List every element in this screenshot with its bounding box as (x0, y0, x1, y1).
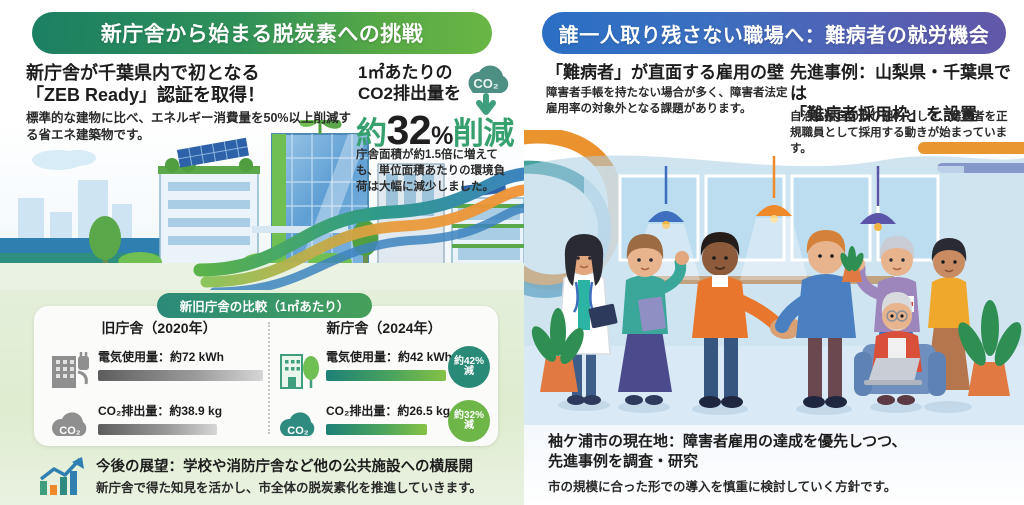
left-footer-heading: 今後の展望：学校や消防庁舎など他の公共施設への横展開 (96, 455, 473, 476)
building-plug-icon (50, 350, 92, 390)
right-heading-barrier: 「難病者」が直面する雇用の壁 (546, 62, 784, 83)
right-body-cases: 自治体独自の取り組みとして、難病者を正規職員として採用する動きが始まっています。 (790, 110, 1018, 158)
metric-label: 電気使用量：約72 kWh (98, 348, 224, 365)
left-panel-header: 新庁舎から始まる脱炭素への挑戦 (32, 12, 492, 54)
co2-reduction-stat: 約32%削減 (356, 110, 521, 151)
comparison-column-new: 新庁舎（2024年） 電気使用量：約42 kWh 約42% 減 CO₂ (278, 318, 490, 454)
stat-suffix: 削減 (453, 116, 514, 151)
metric-row: CO₂ CO₂排出量：約26.5 kg 約32% 減 (278, 400, 490, 450)
left-body-zeb: 標準的な建物に比べ、エネルギー消費量を50%以上削減する省エネ建築物です。 (26, 110, 356, 145)
column-title-old: 旧庁舎（2020年） (50, 318, 268, 338)
svg-text:CO₂: CO₂ (59, 425, 81, 437)
left-panel: 新庁舎から始まる脱炭素への挑戦 新庁舎が千葉県内で初となる 「ZEB Ready… (0, 0, 524, 505)
comparison-badge: 新旧庁舎の比較（1㎡あたり） (157, 293, 372, 318)
metric-label: CO₂排出量：約38.9 kg (98, 402, 222, 419)
reduction-badge-co2: 約32% 減 (448, 400, 490, 442)
right-footer: 袖ケ浦市の現在地：障害者雇用の達成を優先しつつ、 先進事例を調査・研究 市の規模… (548, 432, 1018, 495)
stat-number: 32 (387, 107, 432, 153)
metric-row: CO₂ CO₂排出量：約38.9 kg (50, 400, 268, 450)
svg-text:CO₂: CO₂ (473, 76, 499, 91)
metric-bar (326, 370, 446, 381)
stat-percent: % (431, 122, 453, 150)
right-footer-body: 市の規模に合った形での導入を慎重に検討していく方針です。 (548, 476, 1018, 495)
left-heading-zeb: 新庁舎が千葉県内で初となる 「ZEB Ready」認証を取得！ (26, 62, 356, 107)
metric-bar (98, 370, 263, 381)
green-building-icon (278, 350, 320, 390)
left-footer-body: 新庁舎で得た知見を活かし、市全体の脱炭素化を推進していきます。 (96, 477, 482, 496)
svg-text:CO₂: CO₂ (287, 425, 309, 437)
metric-row: 電気使用量：約72 kWh (50, 346, 268, 396)
stat-prefix: 約 (356, 116, 387, 151)
reduction-badge-electricity: 約42% 減 (448, 346, 490, 388)
metric-bar (326, 424, 427, 435)
infographic-root: 新庁舎から始まる脱炭素への挑戦 新庁舎が千葉県内で初となる 「ZEB Ready… (0, 0, 1024, 505)
metric-bar (98, 424, 217, 435)
co2-cloud-icon: CO₂ (278, 404, 320, 444)
right-body-barrier: 障害者手帳を持たない場合が多く、障害者法定雇用率の対象外となる課題があります。 (546, 86, 788, 118)
metric-row: 電気使用量：約42 kWh 約42% 減 (278, 346, 490, 396)
diverse-workplace-handshake-illustration (524, 130, 1024, 425)
growth-chart-icon (38, 457, 86, 497)
metric-label: CO₂排出量：約26.5 kg (326, 402, 450, 419)
left-body-co2: 庁舎面積が約1.5倍に増えても、単位面積あたりの環境負荷は大幅に減少しました。 (356, 148, 506, 196)
right-panel-header: 誰一人取り残さない職場へ：難病者の就労機会 (542, 12, 1006, 54)
right-footer-heading: 袖ケ浦市の現在地：障害者雇用の達成を優先しつつ、 先進事例を調査・研究 (548, 432, 1018, 472)
metric-label: 電気使用量：約42 kWh (326, 348, 452, 365)
comparison-column-old: 旧庁舎（2020年） 電気使用量：約72 kWh CO₂ CO₂排出量：約38.… (50, 318, 268, 454)
co2-cloud-icon: CO₂ (50, 404, 92, 444)
column-title-new: 新庁舎（2024年） (278, 318, 490, 338)
comparison-divider (268, 322, 270, 434)
